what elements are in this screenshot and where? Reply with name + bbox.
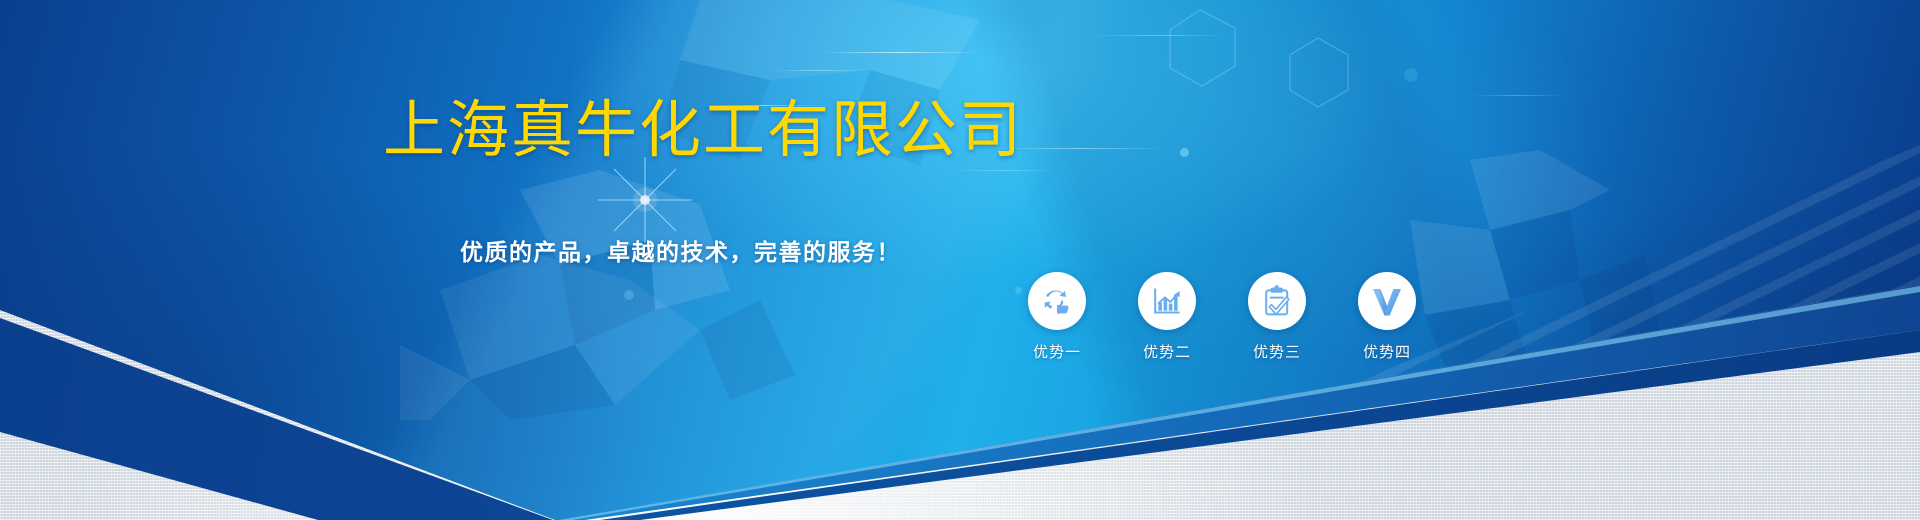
company-hero-banner: 上海真牛化工有限公司 优质的产品，卓越的技术，完善的服务！ 优势一 — [0, 0, 1920, 520]
feature-label: 优势二 — [1143, 341, 1191, 362]
feature-item-1[interactable]: 优势一 — [1028, 272, 1086, 362]
glow-dot — [1015, 287, 1022, 294]
feature-item-3[interactable]: 优势三 — [1248, 272, 1306, 362]
refresh-thumbs-up-icon — [1028, 272, 1086, 330]
page-title: 上海真牛化工有限公司 — [383, 96, 1023, 166]
clipboard-check-icon — [1248, 272, 1306, 330]
feature-item-2[interactable]: 优势二 — [1138, 272, 1196, 362]
glow-dot — [624, 290, 634, 300]
light-streak — [1470, 95, 1565, 96]
glow-dot — [1180, 148, 1189, 157]
feature-label: 优势四 — [1363, 341, 1411, 362]
light-streak — [1090, 35, 1230, 36]
page-subtitle: 优质的产品，卓越的技术，完善的服务！ — [460, 236, 901, 268]
feature-item-4[interactable]: 优势四 — [1358, 272, 1416, 362]
glow-dot — [1404, 68, 1418, 82]
feature-label: 优势一 — [1033, 341, 1081, 362]
hex-decor — [1140, 0, 1400, 130]
v-check-icon — [1358, 272, 1416, 330]
bar-chart-growth-icon — [1138, 272, 1196, 330]
light-streak — [770, 70, 865, 71]
light-streak — [950, 170, 1060, 171]
feature-list: 优势一 优 — [1028, 272, 1416, 362]
light-streak — [820, 52, 980, 53]
feature-label: 优势三 — [1253, 341, 1301, 362]
